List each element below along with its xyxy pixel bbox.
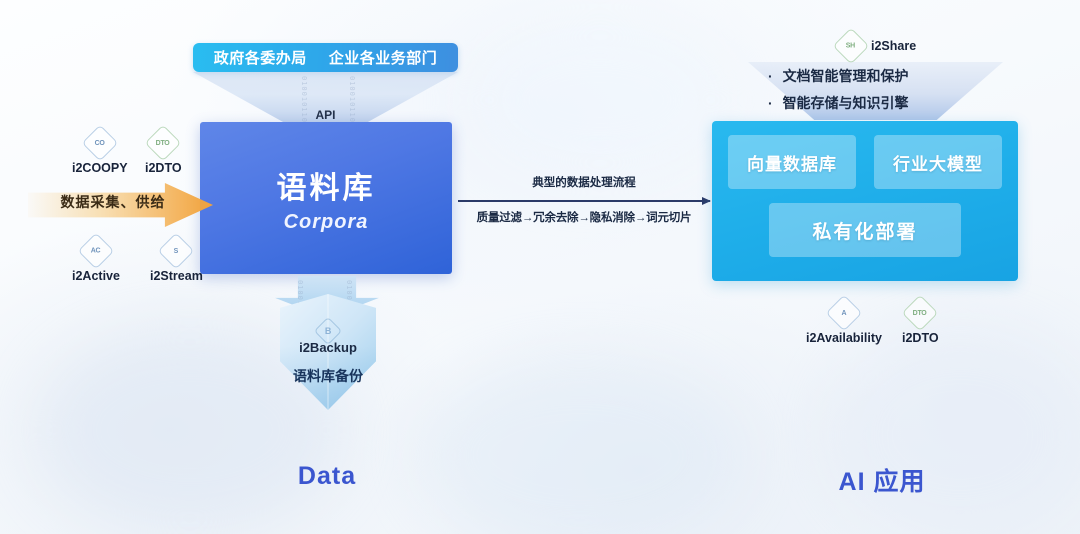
backup-caption: 语料库备份 xyxy=(280,366,376,386)
list-item: 智能存储与知识引擎 xyxy=(768,93,998,113)
banner-item-enterprise: 企业各业务部门 xyxy=(329,47,438,68)
i2active-icon: AC xyxy=(78,233,115,270)
i2dto-bottom-glyph: DTO xyxy=(913,310,927,317)
i2stream-label: i2Stream xyxy=(150,269,203,283)
i2dto-bottom-label: i2DTO xyxy=(902,331,939,345)
i2stream-glyph: S xyxy=(174,248,178,255)
caption-ai-application: AI 应用 xyxy=(812,462,952,498)
i2stream-icon: S xyxy=(158,233,195,270)
share-feature-list: 文档智能管理和保护 智能存储与知识引擎 xyxy=(768,66,998,120)
i2dto-glyph: DTO xyxy=(156,140,170,147)
background-blob xyxy=(420,360,740,534)
i2coopy-label: i2COOPY xyxy=(72,161,128,175)
icon-i2stream[interactable]: S i2Stream xyxy=(150,238,203,283)
diagram-canvas: 政府各委办局 企业各业务部门 01001011010 01001011010 A… xyxy=(0,0,1080,534)
icon-i2dto-top[interactable]: DTO i2DTO xyxy=(145,130,182,175)
i2dto-label: i2DTO xyxy=(145,161,182,175)
i2share-glyph: SH xyxy=(846,43,855,50)
banner-item-government: 政府各委办局 xyxy=(214,47,307,68)
corpus-box: 语料库 Corpora xyxy=(200,122,452,274)
ai-application-panel: 向量数据库 行业大模型 私有化部署 xyxy=(712,121,1018,281)
caption-data: Data xyxy=(262,462,392,491)
i2share-label: i2Share xyxy=(871,39,916,53)
i2dto-bottom-icon: DTO xyxy=(902,295,939,332)
backup-glyph: B xyxy=(325,326,332,336)
i2active-label: i2Active xyxy=(72,269,120,283)
chip-private-deployment[interactable]: 私有化部署 xyxy=(769,203,961,257)
icon-i2share[interactable]: SH i2Share xyxy=(838,33,916,59)
api-label: API xyxy=(193,108,458,122)
i2active-glyph: AC xyxy=(91,247,101,254)
icon-i2availability[interactable]: A i2Availability xyxy=(806,300,882,345)
process-title: 典型的数据处理流程 xyxy=(452,174,716,190)
i2coopy-glyph: CO xyxy=(95,140,105,147)
list-item: 文档智能管理和保护 xyxy=(768,66,998,86)
i2availability-glyph: A xyxy=(842,309,847,316)
process-steps: 质量过滤→冗余去除→隐私消除→词元切片 xyxy=(440,209,728,225)
icon-i2coopy[interactable]: CO i2COOPY xyxy=(72,130,128,175)
i2availability-label: i2Availability xyxy=(806,331,882,345)
i2share-icon: SH xyxy=(833,28,870,65)
i2availability-icon: A xyxy=(826,295,863,332)
org-banner: 政府各委办局 企业各业务部门 xyxy=(193,43,458,72)
chip-vector-database[interactable]: 向量数据库 xyxy=(728,135,856,189)
corpus-title-cn: 语料库 xyxy=(277,163,376,207)
backup-name: i2Backup xyxy=(280,340,376,355)
background-blob xyxy=(830,330,1080,534)
process-arrow xyxy=(458,200,710,202)
icon-i2dto-bottom[interactable]: DTO i2DTO xyxy=(902,300,939,345)
background-blob xyxy=(470,20,730,180)
i2coopy-icon: CO xyxy=(81,125,118,162)
data-intake-label: 数据采集、供给 xyxy=(38,192,188,212)
corpus-title-en: Corpora xyxy=(284,211,369,234)
i2dto-icon: DTO xyxy=(145,125,182,162)
ai-panel-top-row: 向量数据库 行业大模型 xyxy=(726,135,1004,189)
icon-i2active[interactable]: AC i2Active xyxy=(72,238,120,283)
chip-industry-model[interactable]: 行业大模型 xyxy=(874,135,1002,189)
